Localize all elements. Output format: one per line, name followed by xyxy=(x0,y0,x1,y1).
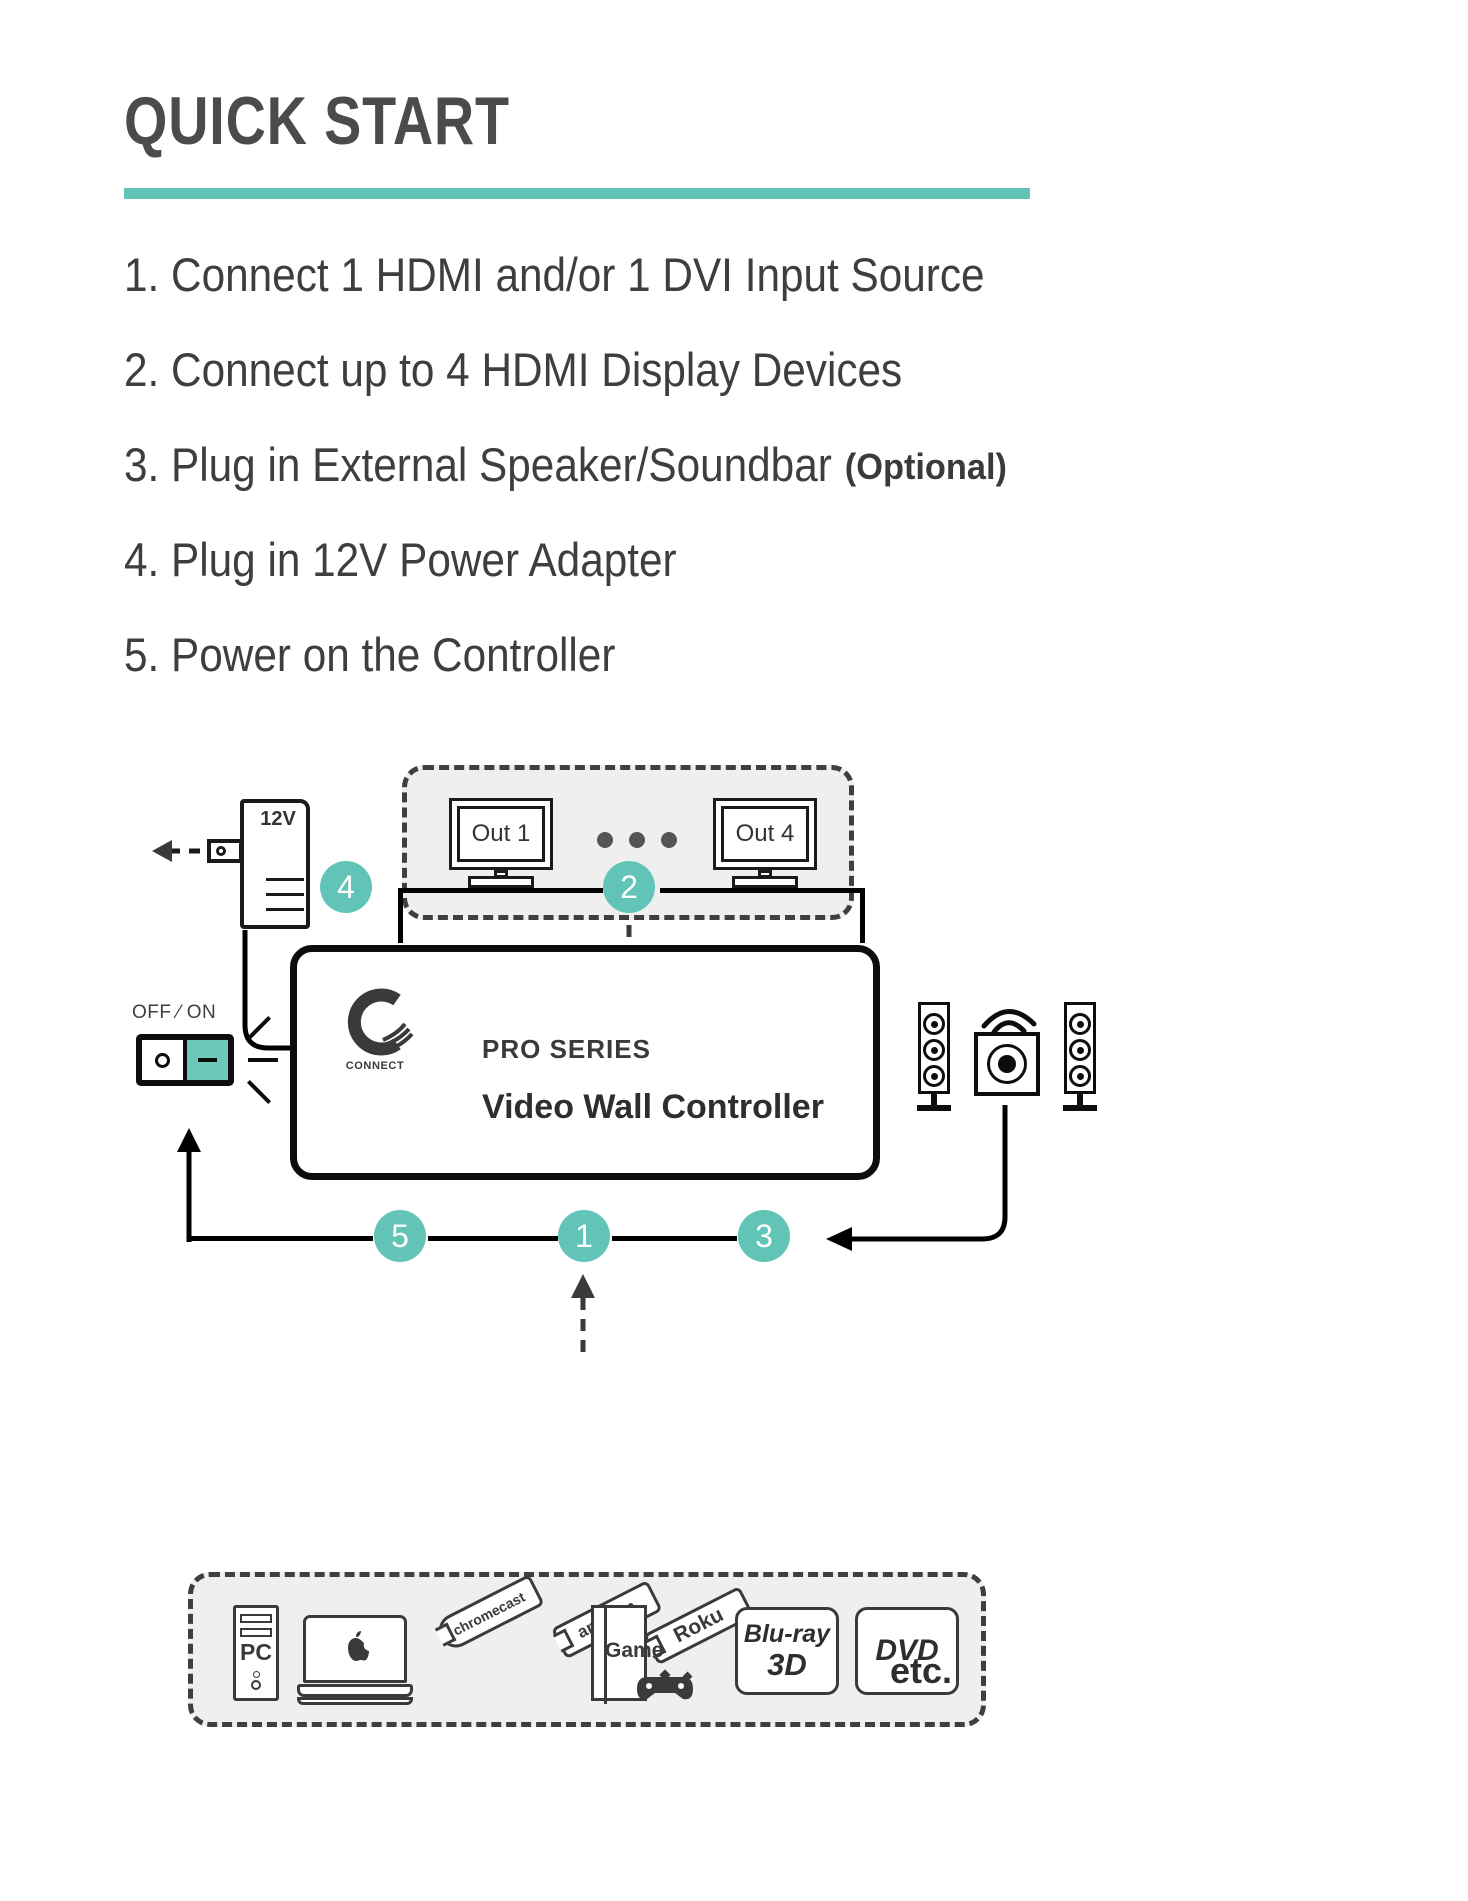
bottom-line-1 xyxy=(428,1236,558,1241)
power-switch[interactable]: OFF ⁄ ON xyxy=(132,1002,292,1122)
subwoofer xyxy=(974,1032,1040,1096)
step-text-5: Power on the Controller xyxy=(171,628,615,681)
step-number-3: 3. xyxy=(124,438,159,491)
display-stand-base xyxy=(468,876,534,888)
step-text-1: Connect 1 HDMI and/or 1 DVI Input Source xyxy=(171,248,985,301)
tower-speaker-right xyxy=(1064,1002,1096,1094)
laptop-foot xyxy=(297,1697,413,1705)
bracket-left-vertical xyxy=(398,888,403,943)
display-screen: Out 4 xyxy=(721,806,809,862)
step-text-4: Plug in 12V Power Adapter xyxy=(171,533,677,586)
quick-start-page: QUICK START 1. Connect 1 HDMI and/or 1 D… xyxy=(0,0,1468,1901)
step-text-3: Plug in External Speaker/Soundbar xyxy=(171,438,832,491)
pc-label: PC xyxy=(233,1639,279,1666)
power-switch-frame[interactable] xyxy=(136,1034,234,1086)
ellipsis-dot xyxy=(661,832,677,848)
step-number-4: 4. xyxy=(124,533,159,586)
step-optional-tag-3: (Optional) xyxy=(844,446,1006,488)
ellipsis-dot xyxy=(629,832,645,848)
controller-series-label: PRO SERIES xyxy=(482,1034,651,1065)
speaker-driver xyxy=(1069,1039,1091,1061)
tower-stand-foot xyxy=(1063,1105,1097,1111)
speaker-driver xyxy=(1069,1065,1091,1087)
speaker-driver xyxy=(923,1039,945,1061)
bracket-right-horizontal xyxy=(660,888,865,893)
adapter-fin xyxy=(266,878,304,881)
badge-step-1: 1 xyxy=(558,1210,610,1262)
adapter-voltage-label: 12V xyxy=(248,808,308,831)
step-item-4: 4. Plug in 12V Power Adapter xyxy=(124,532,677,587)
badge-step-5: 5 xyxy=(374,1210,426,1262)
bracket-right-vertical xyxy=(860,888,865,943)
speaker-driver xyxy=(1069,1013,1091,1035)
badge-step-4: 4 xyxy=(320,861,372,913)
adapter-prong-hole xyxy=(216,846,226,856)
display-label-out4: Out 4 xyxy=(736,820,795,848)
display-bezel: Out 1 xyxy=(449,798,553,870)
display-label-out1: Out 1 xyxy=(472,820,531,848)
step-item-3: 3. Plug in External Speaker/Soundbar (Op… xyxy=(124,437,1002,492)
pc-drive-slot xyxy=(240,1628,272,1637)
step-item-2: 2. Connect up to 4 HDMI Display Devices xyxy=(124,342,902,397)
spark-line xyxy=(247,1016,271,1040)
sources-to-controller-arrow xyxy=(566,1262,606,1352)
bottom-line-2 xyxy=(612,1236,737,1241)
bluray-3d-label: 3D xyxy=(767,1649,807,1680)
speaker-driver xyxy=(923,1065,945,1087)
step-number-2: 2. xyxy=(124,343,159,396)
controller-model-label: Video Wall Controller xyxy=(482,1088,824,1127)
power-off-circle-icon xyxy=(155,1053,170,1068)
power-switch-off-side[interactable] xyxy=(142,1040,187,1080)
step-number-5: 5. xyxy=(124,628,159,681)
step-item-1: 1. Connect 1 HDMI and/or 1 DVI Input Sou… xyxy=(124,247,985,302)
wireless-waves-icon xyxy=(974,990,1044,1034)
source-devices-group: PC chromecast amazon xyxy=(188,1572,986,1727)
speaker-cable-arrow xyxy=(790,1105,1020,1270)
speaker-system xyxy=(912,990,1102,1115)
apple-logo-icon xyxy=(343,1631,369,1663)
step-item-5: 5. Power on the Controller xyxy=(124,627,615,682)
ellipsis-dot xyxy=(597,832,613,848)
title-underline-rule xyxy=(124,188,1030,199)
spark-line xyxy=(248,1058,278,1062)
game-label: Game xyxy=(605,1639,661,1663)
source-macbook xyxy=(297,1615,413,1707)
display-stand-base xyxy=(732,876,798,888)
bluray-label: Blu-ray xyxy=(744,1622,830,1647)
laptop-keyboard-base xyxy=(297,1684,413,1697)
badge-step-2: 2 xyxy=(603,861,655,913)
step-text-2: Connect up to 4 HDMI Display Devices xyxy=(171,343,902,396)
power-switch-label: OFF ⁄ ON xyxy=(132,1002,242,1024)
displays-ellipsis xyxy=(597,832,677,848)
power-switch-on-side[interactable] xyxy=(187,1040,228,1080)
adapter-fin xyxy=(266,893,304,896)
bracket-left-horizontal xyxy=(398,888,603,893)
sources-etc-label: etc. xyxy=(890,1650,952,1692)
display-screen: Out 1 xyxy=(457,806,545,862)
page-title: QUICK START xyxy=(124,82,510,160)
pc-led xyxy=(253,1671,260,1678)
step-number-1: 1. xyxy=(124,248,159,301)
connect-logo-icon xyxy=(339,984,415,1060)
speaker-driver xyxy=(923,1013,945,1035)
pc-power-button xyxy=(251,1680,261,1690)
badge-step-3: 3 xyxy=(738,1210,790,1262)
chromecast-label: chromecast xyxy=(433,1574,545,1653)
source-game-console: Game xyxy=(591,1605,701,1705)
switch-cable-horizontal xyxy=(188,1236,373,1241)
spark-line xyxy=(247,1080,271,1104)
pc-drive-slot xyxy=(240,1614,272,1623)
source-pc: PC xyxy=(233,1605,279,1705)
display-bezel: Out 4 xyxy=(713,798,817,870)
connect-logo-text: CONNECT xyxy=(333,1060,417,1072)
source-bluray: Blu-ray 3D xyxy=(735,1607,839,1695)
power-on-dash-icon xyxy=(198,1058,217,1062)
subwoofer-cone xyxy=(998,1055,1016,1073)
tower-speaker-left xyxy=(918,1002,950,1094)
adapter-fin xyxy=(266,908,304,911)
gamepad-icon xyxy=(635,1667,695,1703)
switch-cable-arrow xyxy=(172,1120,212,1245)
